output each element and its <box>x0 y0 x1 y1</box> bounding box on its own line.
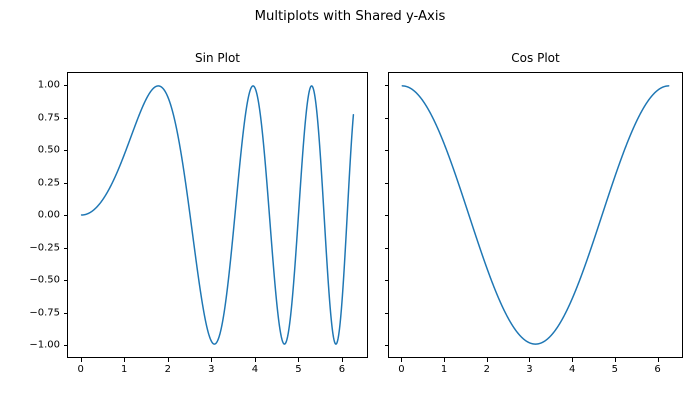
y-tick-mark <box>64 313 68 314</box>
x-tick-mark <box>401 358 402 362</box>
x-tick-mark <box>658 358 659 362</box>
y-tick-label: 0.50 <box>5 145 60 156</box>
x-tick-label: 5 <box>295 364 301 375</box>
series-line-sin <box>82 86 354 344</box>
y-tick-mark <box>64 150 68 151</box>
x-tick-mark <box>529 358 530 362</box>
x-tick-mark <box>168 358 169 362</box>
x-tick-mark <box>255 358 256 362</box>
y-tick-mark <box>385 183 389 184</box>
y-tick-mark <box>64 280 68 281</box>
y-tick-label: −0.75 <box>5 307 60 318</box>
axes-cos-plot <box>388 72 683 358</box>
x-tick-label: 2 <box>165 364 171 375</box>
axes-sin-plot <box>67 72 368 358</box>
y-tick-mark <box>64 118 68 119</box>
y-tick-mark <box>385 85 389 86</box>
y-tick-mark <box>64 345 68 346</box>
x-tick-mark <box>487 358 488 362</box>
x-tick-label: 2 <box>484 364 490 375</box>
x-tick-label: 1 <box>441 364 447 375</box>
figure-suptitle: Multiplots with Shared y-Axis <box>0 9 700 24</box>
y-tick-mark <box>385 215 389 216</box>
x-tick-mark <box>81 358 82 362</box>
y-tick-mark <box>64 248 68 249</box>
y-tick-label: −1.00 <box>5 340 60 351</box>
y-tick-mark <box>385 118 389 119</box>
x-tick-mark <box>342 358 343 362</box>
x-tick-label: 5 <box>612 364 618 375</box>
x-tick-mark <box>615 358 616 362</box>
x-tick-mark <box>298 358 299 362</box>
series-line-cos <box>402 86 668 344</box>
x-tick-label: 4 <box>569 364 575 375</box>
matplotlib-figure: Multiplots with Shared y-Axis Sin Plot C… <box>0 0 700 400</box>
y-tick-mark <box>385 345 389 346</box>
y-tick-label: 0.75 <box>5 112 60 123</box>
x-tick-mark <box>124 358 125 362</box>
sin-plot-canvas <box>68 73 367 357</box>
y-tick-label: 1.00 <box>5 80 60 91</box>
x-tick-label: 0 <box>398 364 404 375</box>
subplot-title-sin: Sin Plot <box>67 51 368 65</box>
y-tick-mark <box>385 313 389 314</box>
y-tick-mark <box>385 280 389 281</box>
x-tick-label: 6 <box>654 364 660 375</box>
y-tick-mark <box>64 215 68 216</box>
x-tick-label: 3 <box>526 364 532 375</box>
subplot-title-cos: Cos Plot <box>388 51 683 65</box>
y-tick-label: 0.25 <box>5 177 60 188</box>
x-tick-mark <box>444 358 445 362</box>
y-tick-label: 0.00 <box>5 210 60 221</box>
x-tick-label: 6 <box>339 364 345 375</box>
x-tick-label: 1 <box>121 364 127 375</box>
y-tick-mark <box>385 150 389 151</box>
cos-plot-canvas <box>389 73 682 357</box>
y-tick-label: −0.25 <box>5 242 60 253</box>
x-tick-mark <box>572 358 573 362</box>
y-tick-mark <box>64 85 68 86</box>
y-tick-label: −0.50 <box>5 275 60 286</box>
x-tick-label: 3 <box>208 364 214 375</box>
x-tick-label: 0 <box>77 364 83 375</box>
x-tick-mark <box>211 358 212 362</box>
x-tick-label: 4 <box>252 364 258 375</box>
y-tick-mark <box>385 248 389 249</box>
y-tick-mark <box>64 183 68 184</box>
